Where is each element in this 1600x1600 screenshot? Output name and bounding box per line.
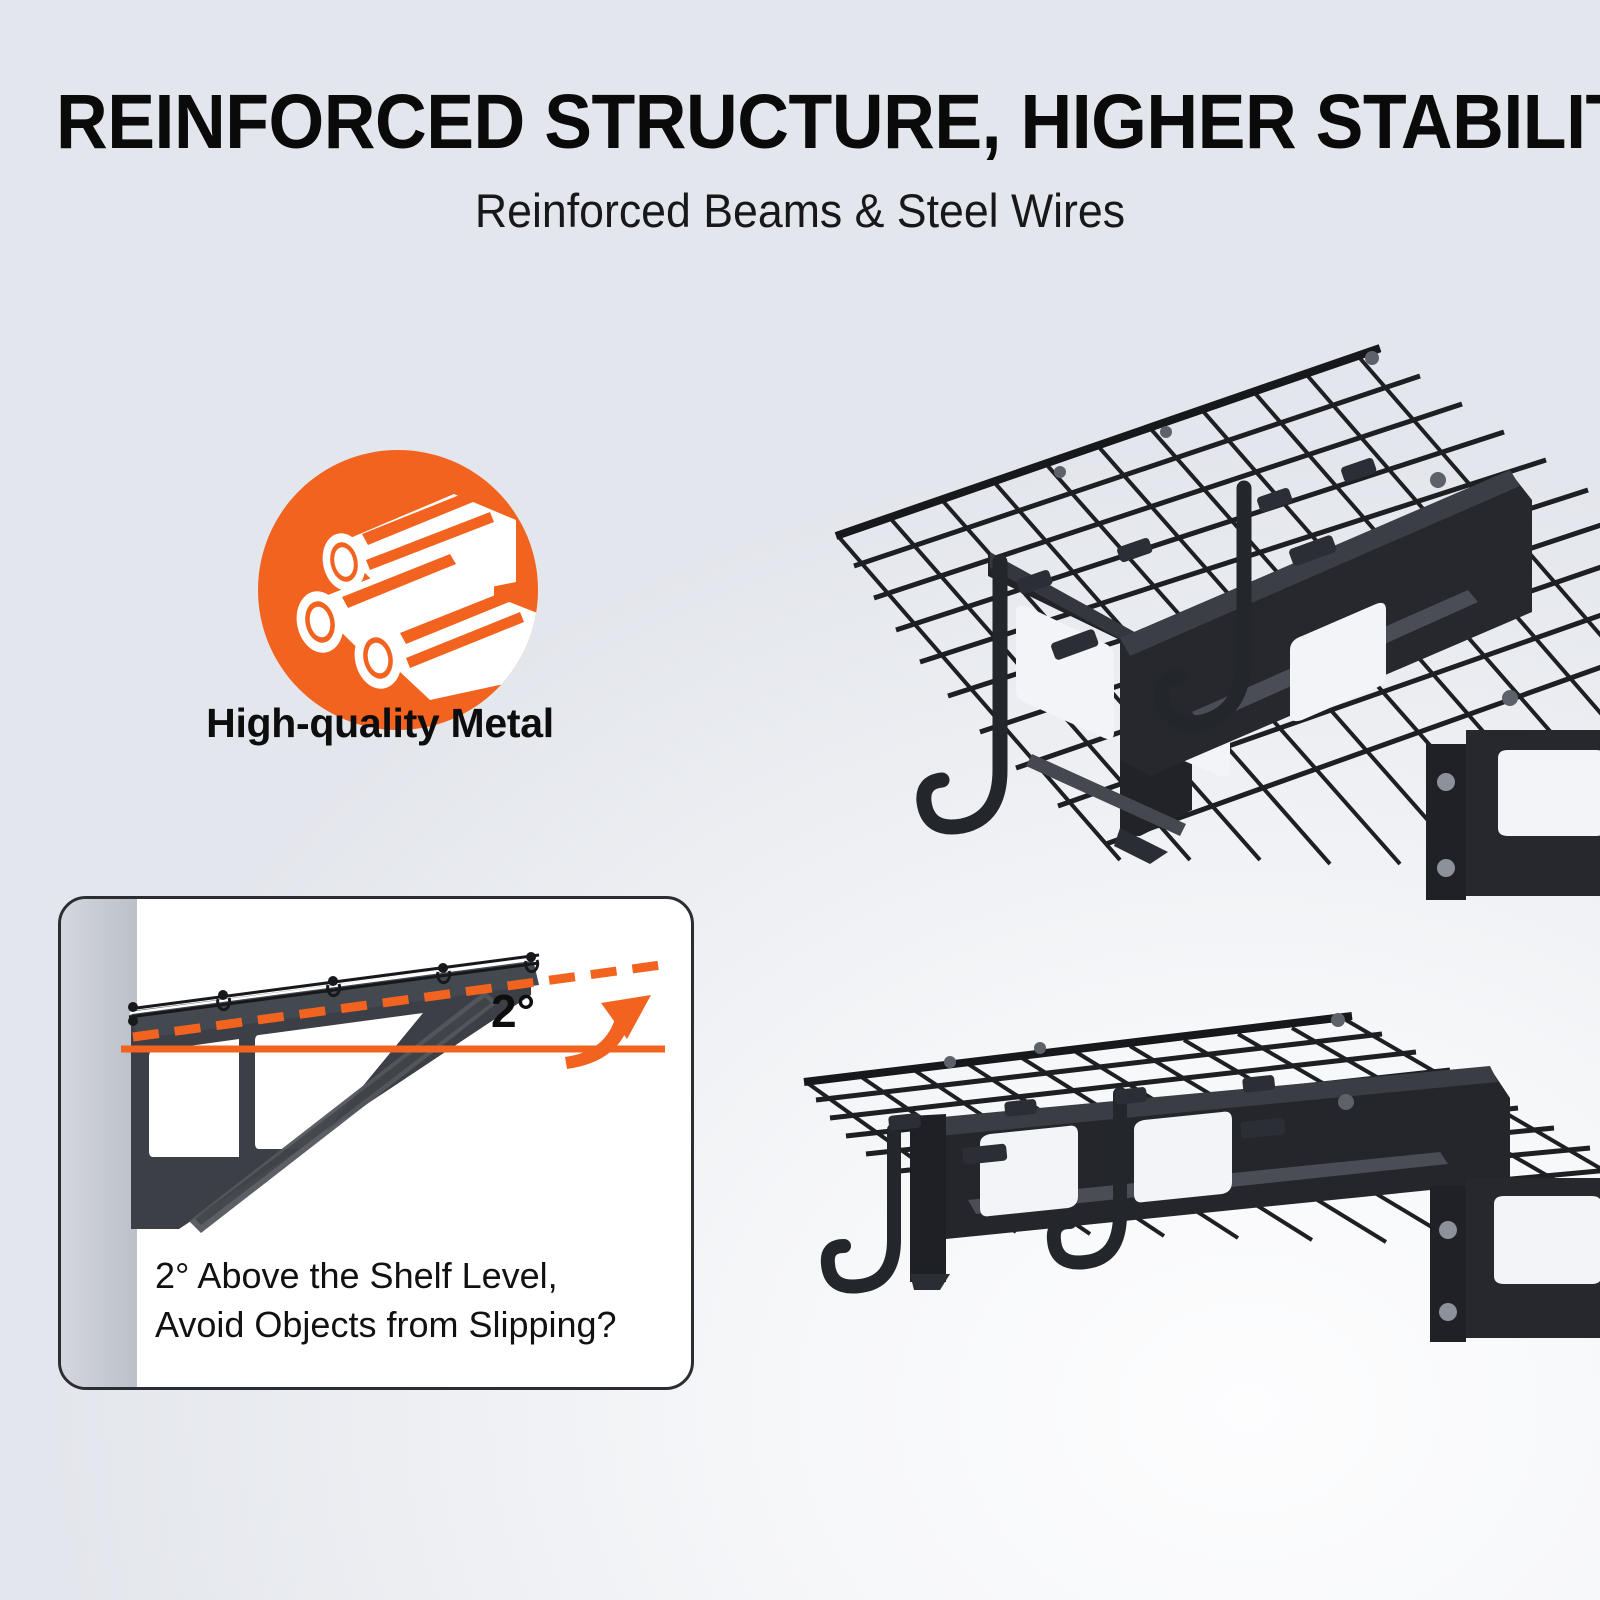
caption-line-1: 2° Above the Shelf Level, bbox=[155, 1255, 558, 1296]
product-photo-top bbox=[820, 340, 1600, 940]
curved-up-arrow-icon bbox=[565, 995, 651, 1069]
metal-pipes-icon bbox=[258, 450, 538, 730]
shelf-bracket-right bbox=[1426, 730, 1600, 900]
shelf-bracket-right bbox=[1430, 1178, 1600, 1342]
high-quality-metal-badge bbox=[258, 450, 538, 730]
product-photo-bottom bbox=[790, 990, 1600, 1410]
diagram-caption: 2° Above the Shelf Level, Avoid Objects … bbox=[155, 1251, 685, 1349]
bracket-wall-plate-left bbox=[910, 1114, 950, 1290]
caption-line-2: Avoid Objects from Slipping? bbox=[155, 1300, 685, 1349]
shelf-underside-view bbox=[820, 340, 1600, 940]
badge-label: High-quality Metal bbox=[0, 700, 760, 747]
shelf-side-view bbox=[790, 990, 1600, 1410]
page-title: REINFORCED STRUCTURE, HIGHER STABILITY bbox=[56, 78, 1544, 167]
page-subtitle: Reinforced Beams & Steel Wires bbox=[40, 183, 1560, 238]
marketing-image-canvas: REINFORCED STRUCTURE, HIGHER STABILITY R… bbox=[0, 0, 1600, 1600]
shelf-angle-illustration bbox=[61, 899, 691, 1259]
angle-value-label: 2° bbox=[491, 984, 535, 1038]
shelf-angle-diagram-panel: 2° 2° Above the Shelf Level, Avoid Objec… bbox=[58, 896, 694, 1390]
